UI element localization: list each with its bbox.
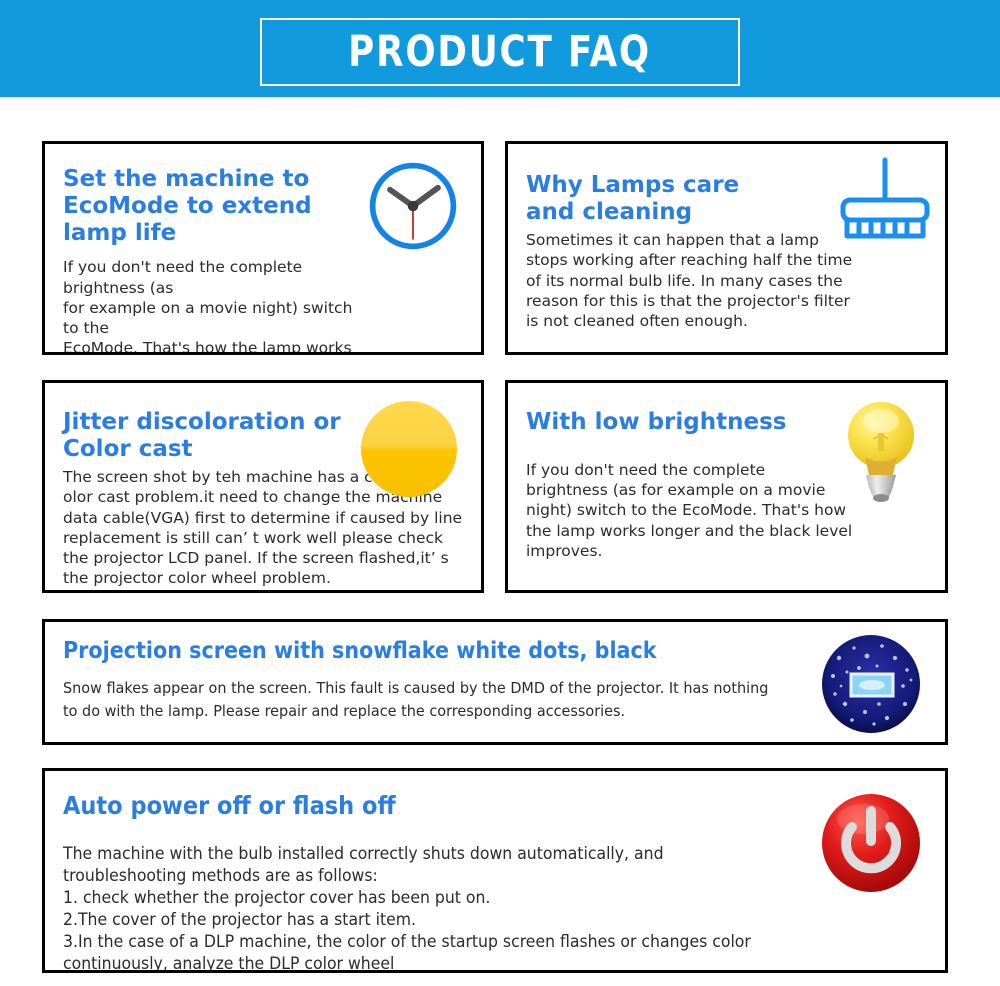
card-title: Auto power off or flash off (63, 791, 842, 821)
faq-card-eco-mode: Set the machine to EcoMode to extend lam… (42, 141, 484, 355)
card-title: With low brightness (526, 409, 866, 436)
card-title: Set the machine to EcoMode to extend lam… (63, 158, 363, 247)
clock-icon (365, 158, 461, 254)
faq-card-auto-power-off: Auto power off or flash off The machine … (42, 768, 948, 973)
card-text: The machine with the bulb installed corr… (63, 823, 842, 974)
starfield-screen-icon (819, 632, 923, 736)
card-body: Why Lamps care and cleaning Sometimes it… (508, 144, 945, 352)
card-title: Why Lamps care and cleaning (526, 172, 826, 226)
page-title-box: PRODUCT FAQ (260, 18, 740, 86)
faq-card-lamp-care: Why Lamps care and cleaning Sometimes it… (505, 141, 948, 355)
page-header: PRODUCT FAQ (0, 0, 1000, 97)
broom-icon (829, 156, 933, 256)
faq-card-jitter-color-cast: Jitter discoloration or Color cast The s… (42, 380, 484, 593)
card-body: Set the machine to EcoMode to extend lam… (45, 144, 481, 352)
card-text: If you don't need the complete brightnes… (63, 249, 363, 355)
faq-card-low-brightness: With low brightness If you don't need th… (505, 380, 948, 593)
yellow-circle-icon (361, 401, 457, 497)
card-body: Projection screen with snowflake white d… (45, 622, 945, 742)
card-title: Jitter discoloration or Color cast (63, 409, 393, 463)
card-body: Auto power off or flash off The machine … (45, 771, 945, 970)
faq-card-snowflake-dots: Projection screen with snowflake white d… (42, 619, 948, 745)
page-title: PRODUCT FAQ (349, 27, 652, 77)
card-body: Jitter discoloration or Color cast The s… (45, 383, 481, 590)
lightbulb-icon (833, 393, 929, 505)
card-title: Projection screen with snowflake white d… (63, 638, 842, 665)
card-text: Snow flakes appear on the screen. This f… (63, 667, 807, 722)
card-body: With low brightness If you don't need th… (508, 383, 945, 590)
power-button-icon (819, 791, 923, 895)
